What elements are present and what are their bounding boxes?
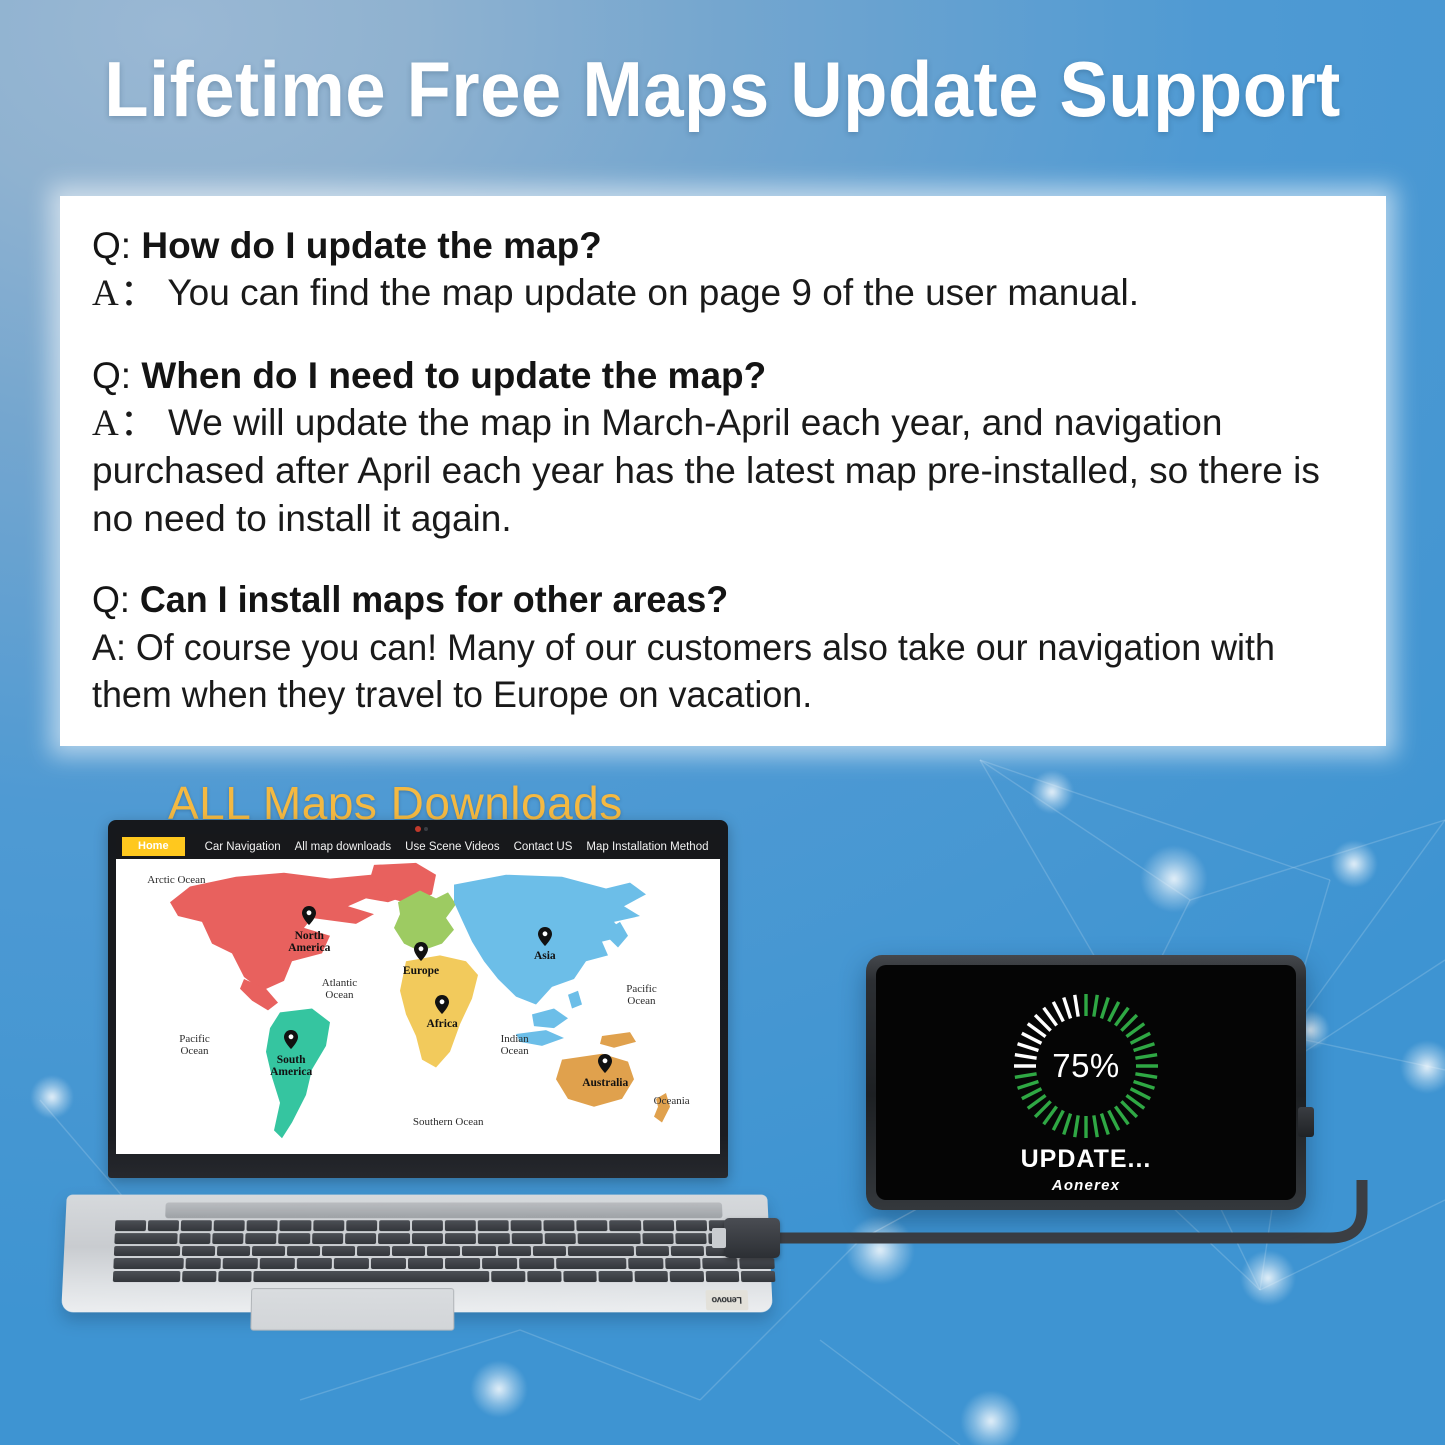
device-usb-port bbox=[1298, 1107, 1314, 1137]
laptop-keyboard[interactable] bbox=[113, 1220, 776, 1282]
laptop-base: Lenovo bbox=[36, 1172, 796, 1322]
page-title: Lifetime Free Maps Update Support bbox=[51, 44, 1395, 135]
ocean-label-southern: Southern Ocean bbox=[413, 1116, 484, 1128]
map-pin-icon[interactable] bbox=[598, 1054, 612, 1073]
islands-southeast-asia bbox=[532, 1008, 568, 1028]
answer-marker: A： bbox=[92, 273, 158, 314]
faq-question-line: Q: How do I update the map? bbox=[92, 222, 1356, 269]
laptop-trackpad[interactable] bbox=[250, 1288, 454, 1331]
keyboard-row bbox=[114, 1233, 773, 1244]
usb-plug-connector bbox=[724, 1218, 780, 1258]
keyboard-row bbox=[113, 1271, 776, 1282]
network-node-glow bbox=[960, 1390, 1022, 1445]
answer-text: We will update the map in March-April ea… bbox=[92, 402, 1320, 539]
islands-philippines bbox=[568, 991, 582, 1009]
faq-question-line: Q: Can I install maps for other areas? bbox=[92, 576, 1318, 623]
progress-percent-label: 75% bbox=[1011, 991, 1161, 1141]
nav-item-car-navigation[interactable]: Car Navigation bbox=[205, 841, 281, 853]
continent-label-text: Europe bbox=[403, 965, 439, 977]
ocean-label-text: Oceania bbox=[654, 1095, 690, 1107]
ocean-label-oceania: Oceania bbox=[654, 1095, 690, 1107]
map-pin-icon[interactable] bbox=[302, 906, 316, 925]
question-text: Can I install maps for other areas? bbox=[140, 579, 728, 620]
question-text: When do I need to update the map? bbox=[141, 355, 766, 396]
laptop-illustration: Home Car Navigation All map downloads Us… bbox=[36, 820, 796, 1380]
ocean-label-atlantic: AtlanticOcean bbox=[322, 977, 357, 1002]
network-node-glow bbox=[1140, 845, 1208, 913]
map-pin-icon[interactable] bbox=[284, 1030, 298, 1049]
island-new-guinea bbox=[600, 1032, 636, 1048]
nav-item-use-scene-videos[interactable]: Use Scene Videos bbox=[405, 841, 499, 853]
continent-label-text: Asia bbox=[534, 950, 556, 962]
ocean-label-pacific-east: PacificOcean bbox=[626, 983, 657, 1008]
network-node-glow bbox=[1400, 1040, 1445, 1094]
laptop-lid: Home Car Navigation All map downloads Us… bbox=[108, 820, 728, 1178]
update-progress-ring: 75% bbox=[1011, 991, 1161, 1141]
spacer bbox=[92, 326, 1356, 352]
faq-answer-line: A： You can find the map update on page 9… bbox=[92, 269, 1356, 317]
faq-card: Q: How do I update the map? A： You can f… bbox=[60, 196, 1386, 746]
map-pin-icon[interactable] bbox=[414, 942, 428, 961]
site-navbar: Home Car Navigation All map downloads Us… bbox=[116, 834, 720, 859]
laptop-screen: Home Car Navigation All map downloads Us… bbox=[116, 834, 720, 1154]
laptop-palmrest: Lenovo bbox=[61, 1195, 773, 1313]
usb-plug-tip bbox=[712, 1228, 726, 1248]
answer-marker: A： bbox=[92, 403, 158, 444]
camera-lens-icon bbox=[424, 827, 428, 831]
keyboard-row bbox=[115, 1220, 773, 1231]
nav-item-contact-us[interactable]: Contact US bbox=[514, 841, 573, 853]
faq-item: Q: When do I need to update the map? A： … bbox=[92, 352, 1356, 542]
continent-label-south-america: SouthAmerica bbox=[270, 1054, 312, 1079]
question-marker: Q: bbox=[92, 355, 131, 396]
laptop-hinge bbox=[165, 1202, 722, 1218]
keyboard-row bbox=[113, 1258, 774, 1269]
question-marker: Q: bbox=[92, 225, 131, 266]
network-node-glow bbox=[1030, 770, 1074, 814]
device-screen: 75% UPDATE... Aonerex bbox=[876, 965, 1296, 1200]
faq-item: Q: Can I install maps for other areas? A… bbox=[92, 576, 1356, 718]
map-pin-icon[interactable] bbox=[435, 995, 449, 1014]
car-navigation-device: 75% UPDATE... Aonerex bbox=[866, 955, 1306, 1210]
faq-answer-line: A: Of course you can! Many of our custom… bbox=[92, 624, 1318, 719]
ocean-label-text: Southern Ocean bbox=[413, 1116, 484, 1128]
continent-label-text: Australia bbox=[582, 1077, 628, 1089]
aonerex-brand-label: Aonerex bbox=[876, 1177, 1296, 1194]
world-map: Arctic Ocean AtlanticOcean PacificOcean … bbox=[116, 859, 720, 1154]
map-pin-icon[interactable] bbox=[538, 927, 552, 946]
continent-label-asia: Asia bbox=[534, 950, 556, 963]
continent-label-australia: Australia bbox=[582, 1077, 628, 1090]
keyboard-row bbox=[114, 1246, 774, 1257]
spacer bbox=[92, 550, 1356, 576]
continent-label-north-america: NorthAmerica bbox=[288, 930, 330, 955]
question-text: How do I update the map? bbox=[141, 225, 601, 266]
nav-item-map-installation-method[interactable]: Map Installation Method bbox=[586, 841, 708, 853]
camera-indicator-icon bbox=[415, 826, 421, 832]
update-status-label: UPDATE... bbox=[876, 1145, 1296, 1174]
ocean-label-indian: IndianOcean bbox=[501, 1033, 529, 1058]
nav-items-group: Car Navigation All map downloads Use Sce… bbox=[205, 841, 709, 853]
faq-item: Q: How do I update the map? A： You can f… bbox=[92, 222, 1356, 318]
answer-marker: A: bbox=[92, 627, 126, 668]
network-node-glow bbox=[1330, 840, 1378, 888]
answer-text: You can find the map update on page 9 of… bbox=[167, 272, 1139, 313]
continent-label-africa: Africa bbox=[427, 1018, 458, 1031]
nav-item-all-map-downloads[interactable]: All map downloads bbox=[295, 841, 392, 853]
ocean-label-arctic: Arctic Ocean bbox=[147, 874, 205, 886]
answer-text: Of course you can! Many of our customers… bbox=[92, 627, 1275, 715]
ocean-label-text: Arctic Ocean bbox=[147, 874, 205, 886]
nav-item-home[interactable]: Home bbox=[122, 837, 185, 856]
faq-answer-line: A： We will update the map in March-April… bbox=[92, 399, 1356, 542]
question-marker: Q: bbox=[92, 579, 130, 620]
continent-label-europe: Europe bbox=[403, 965, 439, 978]
faq-question-line: Q: When do I need to update the map? bbox=[92, 352, 1356, 399]
continent-label-text: Africa bbox=[427, 1018, 458, 1030]
ocean-label-pacific-west: PacificOcean bbox=[179, 1033, 210, 1058]
